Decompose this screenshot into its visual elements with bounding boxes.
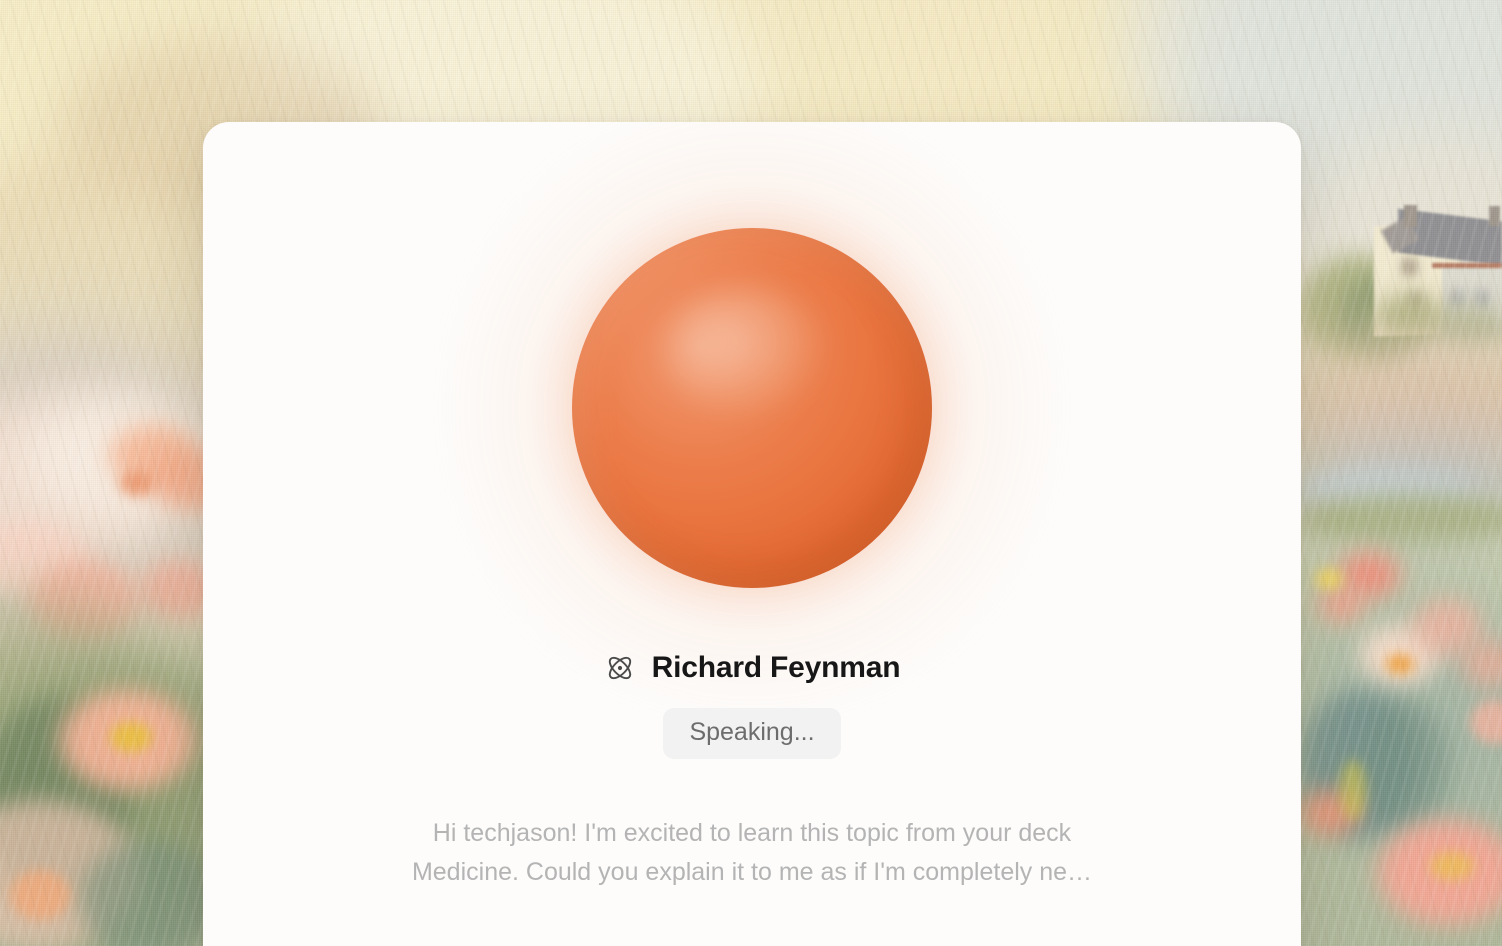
right-green-leaves	[1360, 700, 1450, 830]
right-flower-cream-center	[1386, 654, 1414, 674]
status-row: Speaking...	[203, 708, 1301, 759]
atom-icon	[604, 652, 636, 684]
right-flower-red-b	[1318, 585, 1364, 623]
farmhouse-window-wing-b	[1477, 290, 1487, 308]
voice-orb[interactable]	[572, 228, 932, 588]
right-yellow-stem	[1340, 760, 1366, 820]
orb-highlight	[666, 289, 832, 419]
left-flower-center	[110, 722, 152, 752]
left-lower-accent	[10, 870, 70, 920]
farmhouse-window-wing-a	[1452, 290, 1462, 308]
left-tiny-petal	[120, 470, 154, 496]
status-badge: Speaking...	[663, 708, 840, 759]
right-flower-yellow	[1315, 568, 1343, 590]
transcript-text: Hi techjason! I'm excited to learn this …	[392, 814, 1112, 892]
farmhouse-chimney	[1404, 205, 1417, 227]
right-big-flower-center	[1430, 852, 1474, 880]
farmhouse-chimney-2	[1489, 206, 1500, 226]
conversation-card: Richard Feynman Speaking... Hi techjason…	[203, 122, 1301, 946]
farmhouse-eave-line	[1432, 263, 1502, 268]
persona-name: Richard Feynman	[652, 653, 901, 683]
persona-row: Richard Feynman	[203, 652, 1301, 684]
bank-foliage	[1300, 495, 1502, 545]
farmhouse-window-gable	[1403, 258, 1416, 276]
app-root: Richard Feynman Speaking... Hi techjason…	[0, 0, 1502, 946]
